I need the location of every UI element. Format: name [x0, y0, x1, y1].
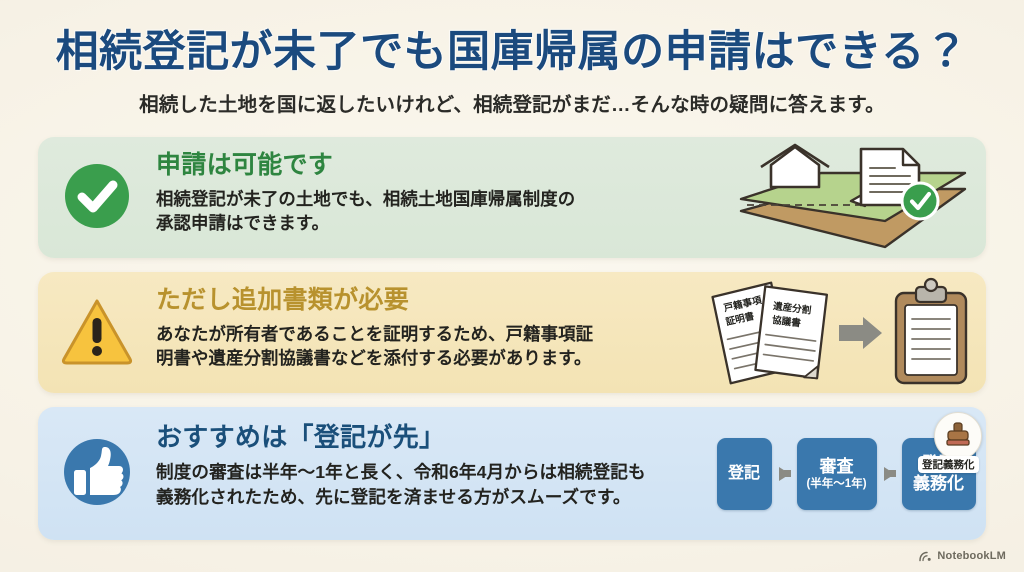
card-1-body: 相続登記が未了の土地でも、相続土地国庫帰属制度の 承認申請はできます。	[156, 187, 724, 236]
card-3-heading: おすすめは「登記が先」	[156, 423, 706, 453]
card-3-body: 制度の審査は半年〜1年と長く、令和6年4月からは相続登記も 義務化されたため、先…	[156, 460, 706, 510]
card-3-text: おすすめは「登記が先」 制度の審査は半年〜1年と長く、令和6年4月からは相続登記…	[156, 407, 706, 510]
flow-step-1-label: 登記	[728, 465, 760, 483]
card-1-body-line-2: 承認申請はできます。	[156, 211, 724, 236]
flow-step-2: 審査 (半年〜1年)	[797, 438, 877, 510]
land-house-document-illustration	[724, 137, 986, 258]
flow-step-2-label: 審査	[820, 457, 854, 476]
registration-flow-diagram: 登記 審査 (半年〜1年) 登記 義務化	[706, 407, 986, 540]
card-1-text: 申請は可能です 相続登記が未了の土地でも、相続土地国庫帰属制度の 承認申請はでき…	[156, 137, 724, 236]
card-additional-documents-required: ただし追加書類が必要 あなたが所有者であることを証明するため、戸籍事項証 明書や…	[38, 272, 986, 393]
check-circle-icon	[38, 137, 156, 258]
flow-step-2-sublabel: (半年〜1年)	[806, 478, 866, 491]
flow-step-3-sublabel: 義務化	[913, 474, 964, 493]
card-2-body-line-1: あなたが所有者であることを証明するため、戸籍事項証	[156, 322, 696, 347]
right-arrow	[839, 317, 882, 349]
card-2-body-line-2: 明書や遺産分割協議書などを添付する必要があります。	[156, 346, 696, 371]
warning-triangle-icon	[38, 272, 156, 393]
stamp-badge-label: 登記義務化	[918, 456, 979, 473]
thumbs-up-icon	[38, 407, 156, 540]
watermark-label: NotebookLM	[937, 550, 1006, 562]
documents-to-clipboard-illustration: 戸籍事項 証明書 遺産分割 協議書	[696, 272, 986, 393]
card-application-possible: 申請は可能です 相続登記が未了の土地でも、相続土地国庫帰属制度の 承認申請はでき…	[38, 137, 986, 258]
infographic-page: 相続登記が未了でも国庫帰属の申請はできる？ 相続した土地を国に返したいけれど、相…	[0, 0, 1024, 572]
card-3-body-line-1: 制度の審査は半年〜1年と長く、令和6年4月からは相続登記も	[156, 460, 706, 485]
card-registration-first-recommended: おすすめは「登記が先」 制度の審査は半年〜1年と長く、令和6年4月からは相続登記…	[38, 407, 986, 540]
header: 相続登記が未了でも国庫帰属の申請はできる？ 相続した土地を国に返したいけれど、相…	[0, 0, 1024, 117]
page-title: 相続登記が未了でも国庫帰属の申請はできる？	[0, 28, 1024, 76]
flow-step-1: 登記	[717, 438, 772, 510]
clipboard	[896, 279, 966, 383]
stamp-icon	[934, 412, 982, 460]
card-3-body-line-2: 義務化されたため、先に登記を済ませる方がスムーズです。	[156, 485, 706, 510]
notebooklm-icon	[919, 551, 932, 562]
watermark: NotebookLM	[919, 550, 1006, 562]
card-2-text: ただし追加書類が必要 あなたが所有者であることを証明するため、戸籍事項証 明書や…	[156, 272, 696, 371]
page-subtitle: 相続した土地を国に返したいけれど、相続登記がまだ…そんな時の疑問に答えます。	[0, 88, 1024, 117]
card-1-heading: 申請は可能です	[156, 151, 724, 180]
flow-arrow-1	[779, 467, 790, 481]
card-1-body-line-1: 相続登記が未了の土地でも、相続土地国庫帰属制度の	[156, 187, 724, 212]
card-2-body: あなたが所有者であることを証明するため、戸籍事項証 明書や遺産分割協議書などを添…	[156, 322, 696, 371]
card-2-heading: ただし追加書類が必要	[156, 286, 696, 315]
flow-arrow-2	[884, 467, 895, 481]
